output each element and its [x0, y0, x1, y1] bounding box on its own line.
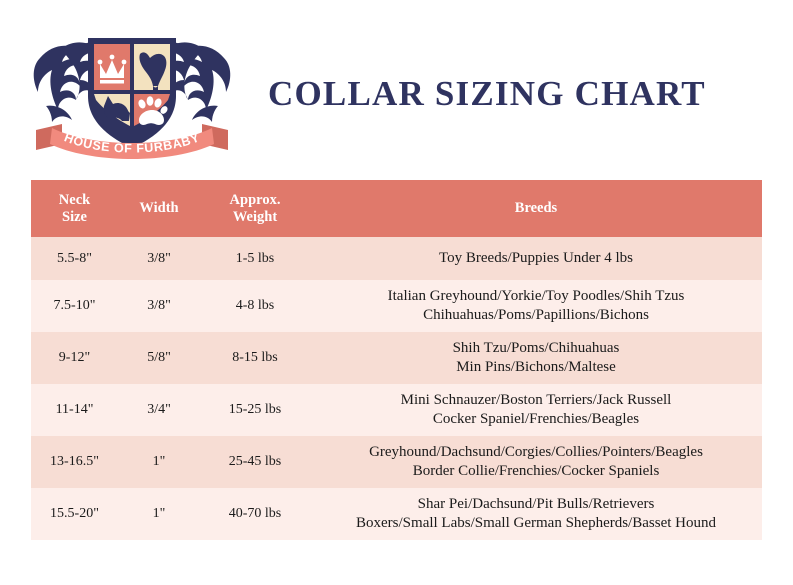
- collar-sizing-table: Neck Size Width Approx. Weight Breeds 5.…: [31, 180, 762, 540]
- table-row: 9-12" 5/8" 8-15 lbs Shih Tzu/Poms/Chihua…: [31, 332, 762, 384]
- breed-line: Border Collie/Frenchies/Cocker Spaniels: [310, 462, 762, 481]
- table-row: 5.5-8" 3/8" 1-5 lbs Toy Breeds/Puppies U…: [31, 237, 762, 280]
- table-row: 7.5-10" 3/8" 4-8 lbs Italian Greyhound/Y…: [31, 280, 762, 332]
- column-header-width-line-1: Width: [118, 200, 200, 217]
- table-row: 11-14" 3/4" 15-25 lbs Mini Schnauzer/Bos…: [31, 384, 762, 436]
- breed-line: Min Pins/Bichons/Maltese: [310, 358, 762, 377]
- cell-breeds: Mini Schnauzer/Boston Terriers/Jack Russ…: [310, 384, 762, 436]
- column-header-neck-size-line-2: Size: [31, 209, 118, 226]
- cell-breeds: Toy Breeds/Puppies Under 4 lbs: [310, 237, 762, 280]
- cell-breeds: Shar Pei/Dachsund/Pit Bulls/Retrievers B…: [310, 488, 762, 540]
- breed-line: Greyhound/Dachsund/Corgies/Collies/Point…: [310, 443, 762, 462]
- cell-neck-size: 11-14": [31, 384, 118, 436]
- table-header-row: Neck Size Width Approx. Weight Breeds: [31, 180, 762, 237]
- page-title: COLLAR SIZING CHART: [268, 74, 768, 114]
- breed-line: Cocker Spaniel/Frenchies/Beagles: [310, 410, 762, 429]
- cell-breeds: Shih Tzu/Poms/Chihuahuas Min Pins/Bichon…: [310, 332, 762, 384]
- column-header-approx-weight: Approx. Weight: [200, 180, 310, 237]
- column-header-neck-size: Neck Size: [31, 180, 118, 237]
- breed-line: Toy Breeds/Puppies Under 4 lbs: [310, 249, 762, 268]
- cell-approx-weight: 4-8 lbs: [200, 280, 310, 332]
- cell-width: 5/8": [118, 332, 200, 384]
- cell-breeds: Italian Greyhound/Yorkie/Toy Poodles/Shi…: [310, 280, 762, 332]
- cell-neck-size: 13-16.5": [31, 436, 118, 488]
- breed-line: Shar Pei/Dachsund/Pit Bulls/Retrievers: [310, 495, 762, 514]
- table-row: 15.5-20" 1" 40-70 lbs Shar Pei/Dachsund/…: [31, 488, 762, 540]
- cell-approx-weight: 15-25 lbs: [200, 384, 310, 436]
- brand-logo: HOUSE OF FURBABY: [22, 18, 242, 168]
- cell-breeds: Greyhound/Dachsund/Corgies/Collies/Point…: [310, 436, 762, 488]
- page-header: HOUSE OF FURBABY COLLAR SIZING CHART: [0, 0, 793, 176]
- cell-approx-weight: 8-15 lbs: [200, 332, 310, 384]
- breed-line: Boxers/Small Labs/Small German Shepherds…: [310, 514, 762, 533]
- cell-approx-weight: 1-5 lbs: [200, 237, 310, 280]
- cell-approx-weight: 25-45 lbs: [200, 436, 310, 488]
- column-header-breeds: Breeds: [310, 180, 762, 237]
- cell-neck-size: 7.5-10": [31, 280, 118, 332]
- cell-width: 1": [118, 488, 200, 540]
- cell-width: 3/4": [118, 384, 200, 436]
- column-header-neck-size-line-1: Neck: [31, 192, 118, 209]
- table-row: 13-16.5" 1" 25-45 lbs Greyhound/Dachsund…: [31, 436, 762, 488]
- table-body: 5.5-8" 3/8" 1-5 lbs Toy Breeds/Puppies U…: [31, 237, 762, 540]
- house-of-furbaby-crest-icon: HOUSE OF FURBABY: [22, 18, 242, 168]
- column-header-approx-weight-line-1: Approx.: [200, 192, 310, 209]
- cell-neck-size: 5.5-8": [31, 237, 118, 280]
- cell-width: 3/8": [118, 280, 200, 332]
- breed-line: Shih Tzu/Poms/Chihuahuas: [310, 339, 762, 358]
- column-header-width: Width: [118, 180, 200, 237]
- cell-neck-size: 9-12": [31, 332, 118, 384]
- column-header-breeds-line-1: Breeds: [310, 200, 762, 217]
- breed-line: Chihuahuas/Poms/Papillions/Bichons: [310, 306, 762, 325]
- column-header-approx-weight-line-2: Weight: [200, 209, 310, 226]
- cell-neck-size: 15.5-20": [31, 488, 118, 540]
- breed-line: Mini Schnauzer/Boston Terriers/Jack Russ…: [310, 391, 762, 410]
- cell-approx-weight: 40-70 lbs: [200, 488, 310, 540]
- breed-line: Italian Greyhound/Yorkie/Toy Poodles/Shi…: [310, 287, 762, 306]
- cell-width: 1": [118, 436, 200, 488]
- cell-width: 3/8": [118, 237, 200, 280]
